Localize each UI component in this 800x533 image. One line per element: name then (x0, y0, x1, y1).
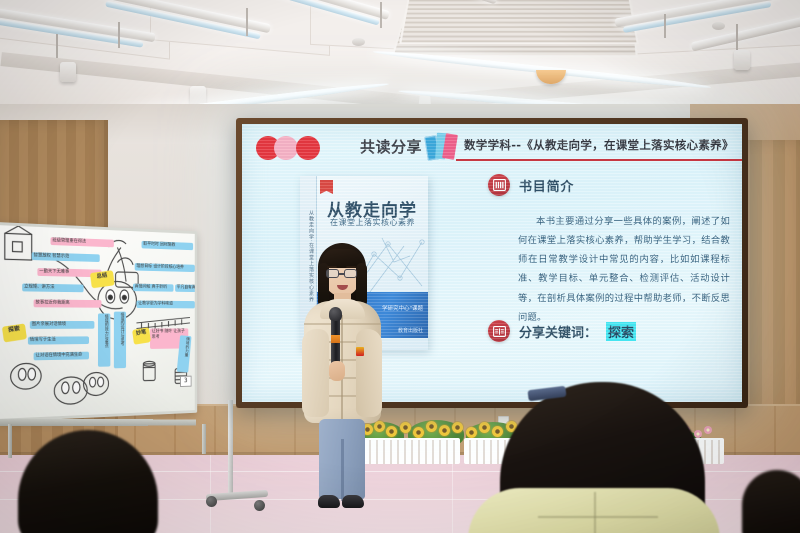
whiteboard[interactable]: 班级管理重在得法 智慧放权 智慧示范 一勤天下无难事 立规矩、讲方法 故事拉近你… (0, 222, 197, 422)
sunflower-icon (452, 422, 463, 433)
sticky-note[interactable]: 理想目标 设计阶段核心培养 (135, 263, 195, 272)
pink-flower-icon (694, 430, 702, 438)
sunflower-icon (479, 422, 490, 433)
classroom-photo-scene: 共读分享 数学学科--《从教走向学，在课堂上落实核心素养》 从教走向学·在课堂上… (0, 0, 800, 533)
decorative-dots (256, 136, 354, 160)
book-band-text: 学研究中心"课题 (382, 304, 423, 312)
ceiling-hanger-rod (664, 14, 666, 38)
section-intro-heading: 书目简介 (488, 174, 574, 196)
glasses-icon-left (326, 269, 339, 278)
presenter-arm-left (302, 329, 329, 417)
whiteboard-leg (202, 424, 206, 454)
glasses-icon-right (344, 269, 357, 278)
ceiling-air-vent (399, 0, 639, 44)
ceiling (0, 0, 800, 118)
display-stand-caster[interactable] (206, 496, 217, 507)
display-stand-pole (228, 400, 233, 498)
sticky-note[interactable]: 真情问候 真于聆听 (133, 284, 174, 292)
dot-pink (274, 136, 298, 160)
presenter-arm-right (356, 329, 382, 417)
section-intro-body: 本书主要通过分享一些具体的案例，阐述了如何在课堂上落实核心素养，帮助学生学习，结… (518, 212, 730, 327)
sticky-note[interactable]: 让教学更为学科味道 (136, 300, 194, 308)
sunflower-icon (426, 421, 437, 432)
ceiling-spotlight (60, 62, 76, 82)
glasses-bridge (339, 273, 344, 275)
publisher-mark-icon (320, 180, 333, 194)
slide-header-label: 共读分享 (360, 136, 422, 157)
sticky-note[interactable]: 立规矩、讲方法 (22, 283, 83, 292)
presenter-hand (329, 361, 345, 381)
floor-seam (452, 455, 453, 533)
ceiling-hanger-rod (380, 2, 382, 28)
sticky-note[interactable]: 让对话在情境中充满生命 (34, 352, 89, 360)
open-book-icon (488, 320, 510, 342)
presenter-shoe-left (318, 495, 340, 508)
pink-flower-icon (704, 426, 712, 434)
ceiling-hanger-rod (736, 24, 738, 50)
book-publisher-text: 教育出版社 (398, 327, 423, 334)
keyword-value: 探索 (606, 322, 636, 341)
sunflower-icon (439, 425, 450, 436)
smoke-detector-icon (352, 38, 365, 46)
display-stand-caster[interactable] (254, 500, 265, 511)
bookshelf-glyph (493, 179, 506, 191)
ceiling-spotlight (734, 50, 750, 70)
sticky-note[interactable]: 故事拉近你我距离 (34, 299, 102, 307)
presenter-shoe-right (342, 495, 364, 508)
sticky-note[interactable]: 情境写于生活 (28, 336, 89, 344)
books-icon (426, 133, 458, 161)
audience-coat (468, 488, 720, 533)
microphone-ring (331, 335, 340, 343)
sunflower-icon (466, 427, 477, 438)
sticky-note-label[interactable]: 妙笔 (132, 327, 151, 344)
whiteboard-surface[interactable]: 班级管理重在得法 智慧放权 智慧示范 一勤天下无难事 立规矩、讲方法 故事拉近你… (0, 222, 197, 422)
book-cover-subtitle: 在课堂上落实核心素养 (330, 217, 426, 228)
ceiling-hanger-rod (246, 8, 248, 36)
whiteboard-number-card: 3 (180, 376, 191, 387)
pants-seam (341, 439, 344, 501)
sticky-note[interactable]: 平凡自有真情 (175, 284, 197, 292)
sunflower-icon (413, 427, 424, 438)
keyword-label: 分享关键词： (519, 322, 597, 341)
book-icon-pink (442, 133, 458, 160)
presenter-brow-right (346, 266, 356, 268)
title-underline (456, 159, 742, 161)
sunflower-icon (492, 426, 503, 437)
microphone-icon[interactable] (329, 307, 342, 321)
section-intro-label: 书目简介 (519, 176, 574, 195)
slide-title: 数学学科--《从教走向学，在课堂上落实核心素养》 (464, 137, 742, 153)
sunflower-icon (400, 422, 411, 433)
whiteboard-leg (8, 424, 12, 458)
sticky-note[interactable]: 图片亲展对话情境 (30, 321, 95, 329)
open-book-glyph (493, 326, 506, 337)
sticky-note-vertical[interactable]: 情境的设计与思考 (114, 312, 126, 369)
ceiling-hanger-rod (118, 22, 120, 48)
presenter-person (296, 243, 388, 521)
smoke-detector-icon (712, 22, 725, 30)
whiteboard-marker-tray (0, 419, 196, 426)
presenter-brow-left (327, 266, 337, 268)
sticky-note-label[interactable]: 总结 (90, 270, 115, 288)
section-keyword-row: 分享关键词： 探索 (488, 320, 636, 342)
sticky-note-vertical[interactable]: 情境的效力与重点 (98, 313, 110, 366)
school-badge (356, 347, 364, 356)
bookshelf-icon (488, 174, 510, 196)
slide-header: 共读分享 数学学科--《从教走向学，在课堂上落实核心素养》 (256, 130, 740, 164)
ceiling-hanger-rod (56, 34, 58, 58)
dot-red-2 (296, 136, 320, 160)
